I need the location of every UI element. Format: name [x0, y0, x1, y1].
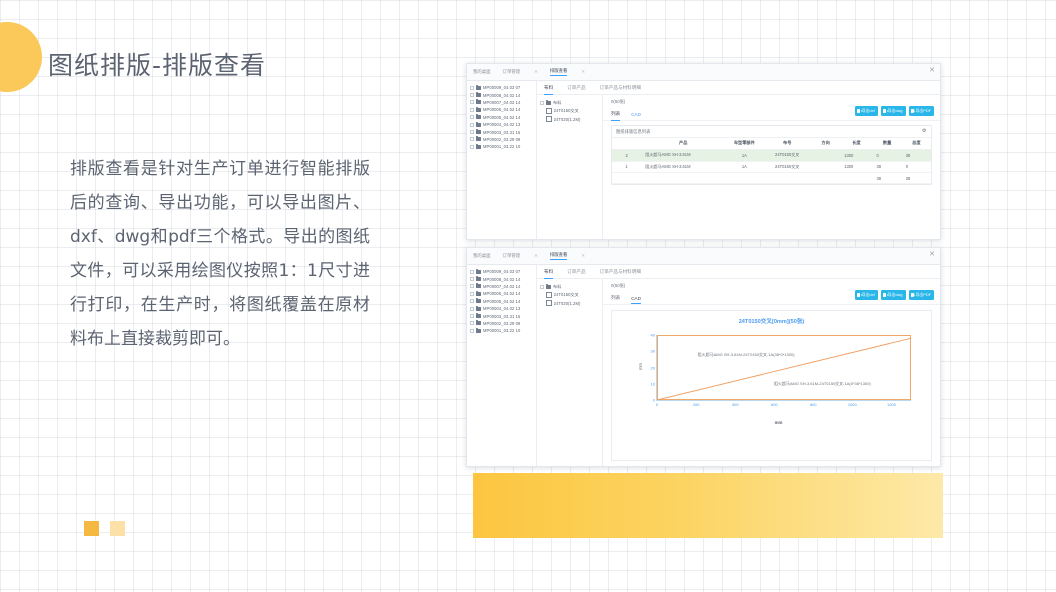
- file-icon: [546, 292, 552, 299]
- folder-icon: [476, 93, 481, 97]
- expand-checkbox-icon[interactable]: [470, 307, 474, 311]
- gear-icon[interactable]: ⚙: [922, 129, 927, 134]
- folder-icon: [476, 137, 481, 141]
- tree-item[interactable]: MP00007_04.02 14: [470, 99, 534, 106]
- fabric-tree-root-label: 布料: [553, 100, 561, 106]
- window-tab-layout-view[interactable]: 排版查看: [550, 252, 568, 260]
- col-fabric-no: 布号: [764, 138, 811, 149]
- export-dxf-label: 导出dxf: [862, 108, 875, 114]
- cell-index: 1: [612, 161, 641, 173]
- tree-item[interactable]: MP00006_04.02 14: [470, 106, 534, 113]
- xtick-200: 200: [693, 402, 700, 407]
- fabric-tree-child-label: 24T0150交叉: [554, 292, 579, 298]
- fabric-tree-panel[interactable]: 布料 24T0150交叉 24T020(1.2M): [537, 95, 603, 240]
- table-footer-row: 38 38: [612, 173, 931, 184]
- col-length: 长度: [840, 138, 872, 149]
- expand-checkbox-icon[interactable]: [470, 137, 474, 141]
- window-close-icon[interactable]: ✕: [929, 251, 935, 259]
- tree-item[interactable]: MP00008_04.02 14: [470, 91, 534, 98]
- expand-checkbox-icon[interactable]: [470, 321, 474, 325]
- tree-item[interactable]: MP00006_04.02 14: [470, 290, 534, 297]
- export-button-group: 导出dxf 导出dwg 导出PDF: [855, 106, 934, 116]
- tab-list-view[interactable]: 列表: [611, 295, 620, 301]
- tree-item[interactable]: MP00001_03.22 10: [470, 327, 534, 334]
- folder-icon: [546, 101, 551, 105]
- expand-checkbox-icon[interactable]: [470, 123, 474, 127]
- expand-checkbox-icon[interactable]: [470, 277, 474, 281]
- footer-quantity: 38: [872, 173, 901, 184]
- folder-icon: [476, 307, 481, 311]
- sub-tab-bar: 布料 订单产品 订单产品与材料明细: [537, 265, 940, 279]
- chart-annotation-lower: 阻火超马AMG SH-3.61M-24T0150交叉-1A(0*38*1300): [774, 381, 871, 387]
- window-tab-bar: 我的桌面 订单管理 ✕ 排版查看 ✕ ✕: [467, 64, 940, 81]
- ytick-10: 10: [651, 381, 655, 386]
- export-button-group: 导出dxf 导出dwg 导出PDF: [855, 290, 934, 300]
- export-icon: [911, 293, 914, 297]
- tab-order-product-materials[interactable]: 订单产品与材料明细: [600, 269, 641, 275]
- tree-item-label: MP00002_03.29 09: [483, 321, 520, 326]
- expand-checkbox-icon[interactable]: [470, 299, 474, 303]
- table-row[interactable]: 1 阻火超马AMG SH-3.61M 1A 24T0150交叉 1300 38 …: [612, 161, 931, 173]
- window-close-icon[interactable]: ✕: [929, 67, 935, 75]
- tree-item-label: MP00004_04.02 13: [483, 306, 520, 311]
- export-dxf-label: 导出dxf: [862, 292, 875, 298]
- export-dwg-label: 导出dwg: [888, 108, 903, 114]
- tab-cad-view[interactable]: CAD: [631, 296, 641, 301]
- expand-checkbox-icon[interactable]: [470, 270, 474, 274]
- file-icon: [546, 116, 552, 123]
- tab-fabric[interactable]: 布料: [544, 85, 553, 91]
- decorative-square-two: [110, 521, 125, 536]
- tree-item-label: MP00005_04.02 14: [483, 299, 520, 304]
- fabric-tree-root-label: 布料: [553, 284, 561, 290]
- footer-product: [641, 173, 725, 184]
- expand-checkbox-icon[interactable]: [470, 284, 474, 288]
- fabric-tree-child[interactable]: 24T020(1.2M): [540, 115, 599, 123]
- file-icon: [546, 108, 552, 115]
- xtick-400: 400: [732, 402, 739, 407]
- folder-icon: [476, 270, 481, 274]
- fabric-tree-panel[interactable]: 布料 24T0150交叉 24T020(1.2M): [537, 279, 603, 467]
- tree-item-label: MP00007_04.02 14: [483, 100, 520, 105]
- tab-order-products[interactable]: 订单产品: [567, 269, 585, 275]
- tree-item-label: MP00004_04.02 13: [483, 122, 520, 127]
- folder-icon: [476, 86, 481, 90]
- expand-checkbox-icon[interactable]: [470, 145, 474, 149]
- tree-item-label: MP00002_03.29 09: [483, 137, 520, 142]
- folder-icon: [476, 123, 481, 127]
- sub-tab-bar: 布料 订单产品 订单产品与材料明细: [537, 81, 940, 95]
- window-tab-orders-close-icon[interactable]: ✕: [534, 69, 538, 75]
- decorative-gradient-bar: [473, 473, 943, 538]
- expand-checkbox-icon[interactable]: [470, 130, 474, 134]
- xtick-0: 0: [656, 402, 658, 407]
- tree-item-label: MP00008_04.02 14: [483, 277, 520, 282]
- window-tab-layout-view[interactable]: 排版查看: [550, 68, 568, 76]
- tree-item-label: MP00009_04.03 07: [483, 85, 520, 90]
- tab-list-view[interactable]: 列表: [611, 111, 620, 117]
- cell-direction: [811, 149, 840, 161]
- tree-item[interactable]: MP00005_04.02 14: [470, 298, 534, 305]
- chart-annotation-upper: 阻火超马AMG SH-3.61M-24T0150交叉-1A(38*0*1300): [698, 352, 795, 358]
- window-tab-desktop[interactable]: 我的桌面: [473, 69, 491, 75]
- chart-ylabel: mm: [638, 363, 643, 370]
- tree-item[interactable]: MP00002_03.29 09: [470, 136, 534, 143]
- tree-item[interactable]: MP00002_03.29 09: [470, 320, 534, 327]
- cell-quantity: 38: [872, 161, 901, 173]
- tree-item[interactable]: MP00008_04.02 14: [470, 275, 534, 282]
- screenshot-panel-cad: 我的桌面 订单管理 ✕ 排版查看 ✕ ✕ MP00009_04.03 07 MP…: [466, 247, 941, 467]
- decorative-square-one: [84, 521, 99, 536]
- export-pdf-label: 导出PDF: [915, 108, 931, 114]
- export-icon: [857, 109, 860, 113]
- chart-plot: 0 10 20 30 40 0 200 400 600 800 1000: [656, 335, 911, 401]
- expand-checkbox-icon[interactable]: [470, 86, 474, 90]
- export-icon: [857, 293, 860, 297]
- chart-title: 24T0150交叉[0mm](50张): [612, 311, 931, 325]
- tree-item[interactable]: MP00004_04.02 13: [470, 121, 534, 128]
- tree-item-label: MP00009_04.03 07: [483, 269, 520, 274]
- cell-total: 0: [902, 161, 931, 173]
- folder-icon: [476, 299, 481, 303]
- fabric-tree-child[interactable]: 24T020(1.2M): [540, 299, 599, 307]
- layout-table-card: 图纸排版信息列表 ⚙ 产品 车型零部件 布号 方向: [611, 125, 932, 185]
- export-dxf-button[interactable]: 导出dxf: [855, 290, 878, 300]
- folder-icon: [476, 130, 481, 134]
- footer-fabric-no: [764, 173, 811, 184]
- fabric-tree-child[interactable]: 24T0150交叉: [540, 291, 599, 299]
- tree-item-label: MP00001_03.22 10: [483, 328, 520, 333]
- ytick-30: 30: [651, 349, 655, 354]
- cell-product: 阻火超马AMG SH-3.61M: [641, 149, 725, 161]
- cell-index: 2: [612, 149, 641, 161]
- footer-length: [840, 173, 872, 184]
- tree-item[interactable]: MP00009_04.03 07: [470, 268, 534, 275]
- cut-line: [657, 335, 911, 400]
- order-tree-panel[interactable]: MP00009_04.03 07 MP00008_04.02 14 MP0000…: [467, 265, 537, 467]
- xtick-600: 600: [771, 402, 778, 407]
- export-pdf-label: 导出PDF: [915, 292, 931, 298]
- window-tab-layout-view-close-icon[interactable]: ✕: [581, 253, 585, 259]
- export-icon: [883, 109, 886, 113]
- window-tab-orders[interactable]: 订单管理: [503, 253, 521, 259]
- tree-item-label: MP00003_03.31 15: [483, 314, 520, 319]
- expand-checkbox-icon[interactable]: [540, 285, 544, 289]
- expand-checkbox-icon[interactable]: [470, 100, 474, 104]
- screenshot-panel-list: 我的桌面 订单管理 ✕ 排版查看 ✕ ✕ MP00009_04.03 07 MP…: [466, 63, 941, 240]
- col-quantity: 数量: [872, 138, 901, 149]
- table-caption: 图纸排版信息列表: [616, 129, 650, 135]
- tree-item-label: MP00001_03.22 10: [483, 144, 520, 149]
- folder-icon: [476, 314, 481, 318]
- col-part: 车型零部件: [725, 138, 763, 149]
- cell-quantity: 0: [872, 149, 901, 161]
- cad-chart-card: 24T0150交叉[0mm](50张) mm 0 10 20: [611, 310, 932, 461]
- folder-icon: [476, 100, 481, 104]
- body-paragraph: 排版查看是针对生产订单进行智能排版后的查询、导出功能，可以导出图片、dxf、dw…: [70, 152, 370, 356]
- chart-area: mm 0 10 20 30 40 0: [636, 331, 921, 415]
- tree-item[interactable]: MP00005_04.02 14: [470, 114, 534, 121]
- cell-length: 1300: [840, 149, 872, 161]
- footer-total: 38: [902, 173, 931, 184]
- fabric-tree-root[interactable]: 布料: [540, 99, 599, 107]
- file-icon: [546, 300, 552, 307]
- folder-icon: [476, 321, 481, 325]
- fabric-tree-child-label: 24T020(1.2M): [554, 301, 581, 306]
- table-row[interactable]: 2 阻火超马AMG SH-3.61M 1A 24T0150交叉 1300 0 3…: [612, 149, 931, 161]
- footer-index: [612, 173, 641, 184]
- cell-total: 38: [902, 149, 931, 161]
- layout-table: 产品 车型零部件 布号 方向 长度 数量 总度: [612, 138, 931, 184]
- folder-icon: [476, 108, 481, 112]
- export-dwg-button[interactable]: 导出dwg: [881, 106, 906, 116]
- tree-item-label: MP00006_04.02 14: [483, 107, 520, 112]
- cell-fabric-no: 24T0150交叉: [764, 161, 811, 173]
- export-pdf-button[interactable]: 导出PDF: [909, 290, 934, 300]
- fabric-tree-child-label: 24T020(1.2M): [554, 117, 581, 122]
- tree-item-label: MP00003_03.31 15: [483, 130, 520, 135]
- export-pdf-button[interactable]: 导出PDF: [909, 106, 934, 116]
- expand-checkbox-icon[interactable]: [540, 101, 544, 105]
- col-index: [612, 138, 641, 149]
- window-tab-layout-view-close-icon[interactable]: ✕: [581, 69, 585, 75]
- export-dxf-button[interactable]: 导出dxf: [855, 106, 878, 116]
- ytick-40: 40: [651, 333, 655, 338]
- xtick-1000: 1000: [848, 402, 857, 407]
- tab-order-product-materials[interactable]: 订单产品与材料明细: [600, 85, 641, 91]
- footer-part: [725, 173, 763, 184]
- expand-checkbox-icon[interactable]: [470, 93, 474, 97]
- tree-item-label: MP00006_04.02 14: [483, 291, 520, 296]
- tree-item[interactable]: MP00003_03.31 15: [470, 128, 534, 135]
- tree-item-label: MP00005_04.02 14: [483, 115, 520, 120]
- tab-cad-view[interactable]: CAD: [631, 112, 641, 117]
- fabric-tree-child[interactable]: 24T0150交叉: [540, 107, 599, 115]
- ytick-0: 0: [653, 398, 655, 403]
- cell-length: 1300: [840, 161, 872, 173]
- folder-icon: [476, 284, 481, 288]
- export-icon: [883, 293, 886, 297]
- expand-checkbox-icon[interactable]: [470, 314, 474, 318]
- cell-product: 阻火超马AMG SH-3.61M: [641, 161, 725, 173]
- cell-direction: [811, 161, 840, 173]
- table-header-row: 产品 车型零部件 布号 方向 长度 数量 总度: [612, 138, 931, 149]
- tree-item-label: MP00007_04.02 14: [483, 284, 520, 289]
- expand-checkbox-icon[interactable]: [470, 329, 474, 333]
- col-product: 产品: [641, 138, 725, 149]
- expand-checkbox-icon[interactable]: [470, 115, 474, 119]
- chart-xlabel: mm: [636, 420, 921, 425]
- window-tab-desktop[interactable]: 我的桌面: [473, 253, 491, 259]
- cell-part: 1A: [725, 149, 763, 161]
- cell-part: 1A: [725, 161, 763, 173]
- tree-item[interactable]: MP00007_04.02 14: [470, 283, 534, 290]
- window-tab-orders[interactable]: 订单管理: [503, 69, 521, 75]
- tree-item[interactable]: MP00009_04.03 07: [470, 84, 534, 91]
- folder-icon: [546, 285, 551, 289]
- fabric-tree-root[interactable]: 布料: [540, 283, 599, 291]
- export-dwg-label: 导出dwg: [888, 292, 903, 298]
- export-dwg-button[interactable]: 导出dwg: [881, 290, 906, 300]
- export-icon: [911, 109, 914, 113]
- xtick-1200: 1200: [887, 402, 896, 407]
- folder-icon: [476, 292, 481, 296]
- footer-direction: [811, 173, 840, 184]
- tree-item[interactable]: MP00004_04.02 13: [470, 305, 534, 312]
- cell-fabric-no: 24T0150交叉: [764, 149, 811, 161]
- expand-checkbox-icon[interactable]: [470, 108, 474, 112]
- order-tree-panel[interactable]: MP00009_04.03 07 MP00008_04.02 14 MP0000…: [467, 81, 537, 240]
- tree-item[interactable]: MP00001_03.22 10: [470, 143, 534, 150]
- window-tab-orders-close-icon[interactable]: ✕: [534, 253, 538, 259]
- folder-icon: [476, 277, 481, 281]
- col-total: 总度: [902, 138, 931, 149]
- tab-order-products[interactable]: 订单产品: [567, 85, 585, 91]
- fabric-tree-child-label: 24T0150交叉: [554, 108, 579, 114]
- tab-fabric[interactable]: 布料: [544, 269, 553, 275]
- ytick-20: 20: [651, 365, 655, 370]
- page-title: 图纸排版-排版查看: [48, 46, 266, 82]
- window-tab-bar: 我的桌面 订单管理 ✕ 排版查看 ✕ ✕: [467, 248, 940, 265]
- tree-item-label: MP00008_04.02 14: [483, 93, 520, 98]
- folder-icon: [476, 329, 481, 333]
- folder-icon: [476, 115, 481, 119]
- tree-item[interactable]: MP00003_03.31 15: [470, 312, 534, 319]
- folder-icon: [476, 145, 481, 149]
- expand-checkbox-icon[interactable]: [470, 292, 474, 296]
- col-direction: 方向: [811, 138, 840, 149]
- xtick-800: 800: [810, 402, 817, 407]
